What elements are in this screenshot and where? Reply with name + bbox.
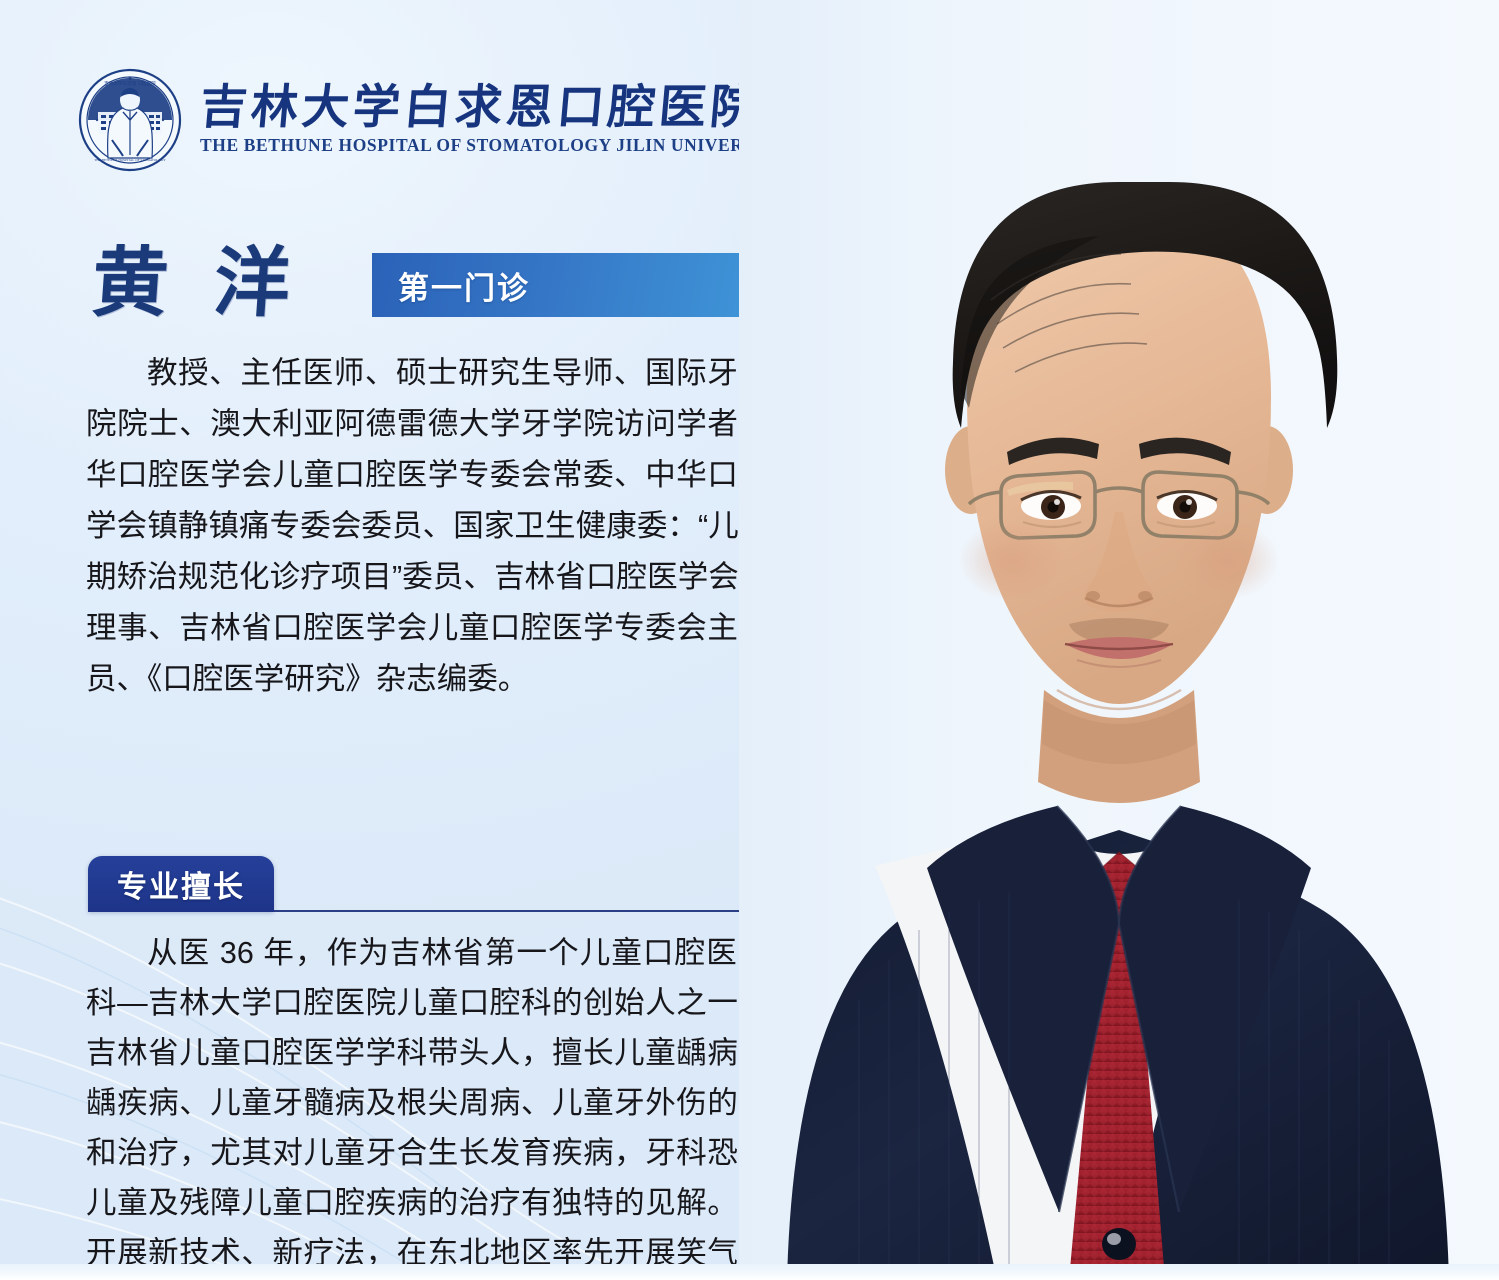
department-label: 第一门诊 <box>398 263 530 308</box>
bottom-strip <box>0 1264 1499 1280</box>
specialty-badge-label: 专业擅长 <box>117 862 245 906</box>
specialty-divider <box>274 910 788 912</box>
hospital-seal-icon: 吉林大学白求恩 口腔医院 THE BETHUNE HOSPITAL OF STO… <box>78 68 182 172</box>
doctor-name: 黄洋 <box>89 246 338 322</box>
svg-text:THE BETHUNE HOSPITAL OF STOMAT: THE BETHUNE HOSPITAL OF STOMATOLOGY <box>94 158 166 162</box>
svg-text:吉林大学白求恩 口腔医院: 吉林大学白求恩 口腔医院 <box>104 80 156 87</box>
department-banner: 第一门诊 <box>372 253 912 317</box>
hospital-branding: 吉林大学白求恩 口腔医院 THE BETHUNE HOSPITAL OF STO… <box>78 68 787 172</box>
hospital-name-cn: 吉林大学白求恩口腔医院 <box>198 84 789 133</box>
doctor-portrait <box>739 0 1499 1280</box>
doctor-profile-poster: 吉林大学白求恩 口腔医院 THE BETHUNE HOSPITAL OF STO… <box>0 0 1499 1280</box>
doctor-name-row: 黄洋 <box>92 228 336 340</box>
specialty-badge: 专业擅长 <box>88 856 274 912</box>
doctor-credentials: 教授、主任医师、硕士研究生导师、国际牙医学院院士、澳大利亚阿德雷德大学牙学院访问… <box>86 348 800 705</box>
hospital-name-en: THE BETHUNE HOSPITAL OF STOMATOLOGY JILI… <box>200 135 787 156</box>
specialty-heading: 专业擅长 <box>88 856 788 918</box>
specialty-body: 从医 36 年，作为吉林省第一个儿童口腔医学专科—吉林大学口腔医院儿童口腔科的创… <box>86 928 800 1280</box>
